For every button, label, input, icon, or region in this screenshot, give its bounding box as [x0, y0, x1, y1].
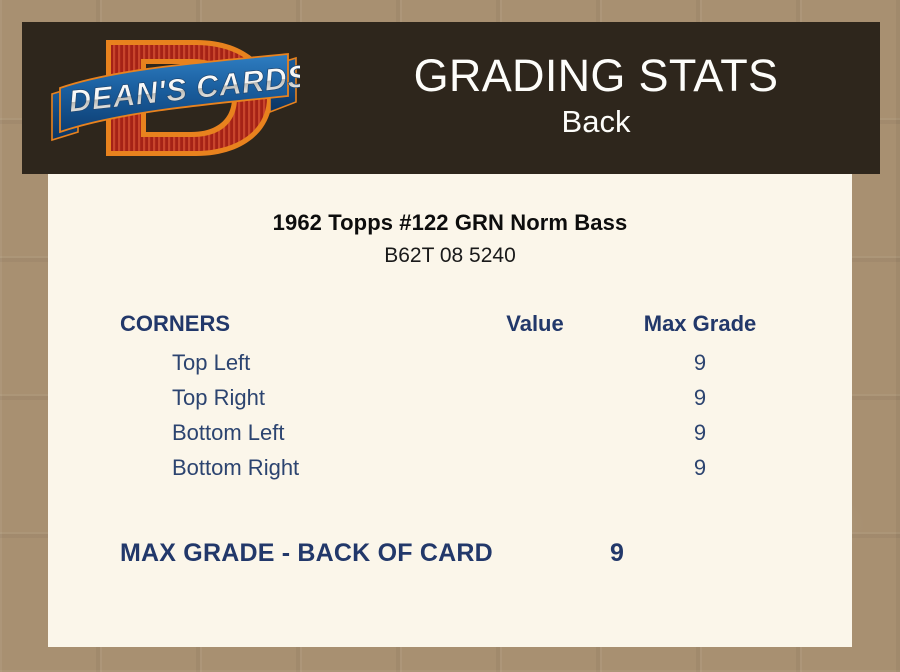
row-max-grade: 9 [620, 380, 780, 415]
table-row: Bottom Left9 [120, 415, 780, 450]
row-value [450, 415, 620, 450]
column-header-value: Value [450, 306, 620, 345]
logo-svg: DEAN'S CARDS [48, 28, 300, 168]
table-body: Top Left9Top Right9Bottom Left9Bottom Ri… [120, 345, 780, 485]
table-row: Top Right9 [120, 380, 780, 415]
table-header: CORNERS Value Max Grade [120, 306, 780, 345]
table-row: Top Left9 [120, 345, 780, 380]
column-header-corners: CORNERS [120, 306, 450, 345]
summary-row: MAX GRADE - BACK OF CARD 9 [120, 539, 780, 568]
row-value [450, 345, 620, 380]
table-header-row: CORNERS Value Max Grade [120, 306, 780, 345]
row-label: Bottom Right [120, 450, 450, 485]
table-row: Bottom Right9 [120, 450, 780, 485]
row-value [450, 380, 620, 415]
row-label: Top Right [120, 380, 450, 415]
row-label: Bottom Left [120, 415, 450, 450]
deans-cards-logo: DEAN'S CARDS [48, 28, 300, 168]
row-max-grade: 9 [620, 450, 780, 485]
content-panel: 1962 Topps #122 GRN Norm Bass B62T 08 52… [48, 174, 852, 647]
summary-value: 9 [610, 539, 780, 568]
column-header-max-grade: Max Grade [620, 306, 780, 345]
page-title: GRADING STATS [414, 53, 779, 100]
summary-label: MAX GRADE - BACK OF CARD [120, 539, 610, 568]
card-subtitle: B62T 08 5240 [48, 244, 852, 268]
header-bar: DEAN'S CARDS GRADING STATS Back [22, 22, 880, 174]
header-titles: GRADING STATS Back [312, 22, 880, 174]
card-title: 1962 Topps #122 GRN Norm Bass [48, 210, 852, 236]
page-subtitle: Back [562, 102, 631, 142]
row-max-grade: 9 [620, 345, 780, 380]
row-value [450, 450, 620, 485]
row-label: Top Left [120, 345, 450, 380]
row-max-grade: 9 [620, 415, 780, 450]
grading-stats-table: CORNERS Value Max Grade Top Left9Top Rig… [120, 306, 780, 485]
